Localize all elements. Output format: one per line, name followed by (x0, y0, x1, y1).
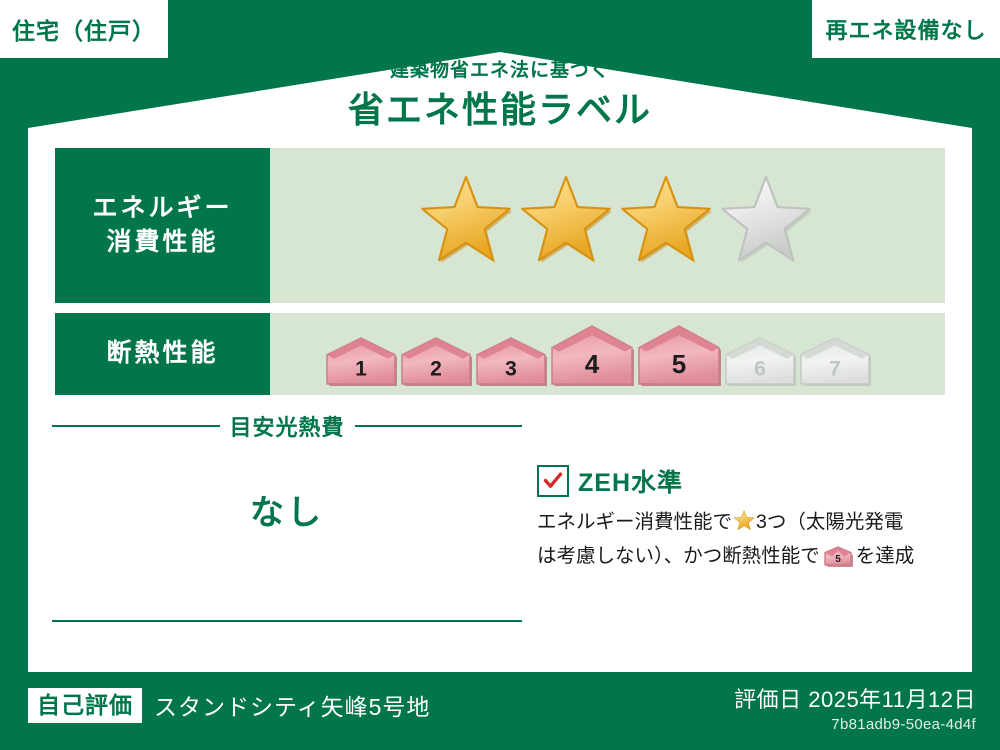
energy-performance-label: 住宅（住戸） 再エネ設備なし 建築物省エネ法に基づく 省エネ性能ラベル エネルギ… (0, 0, 1000, 750)
self-evaluation-badge: 自己評価 (28, 688, 142, 723)
svg-text:7: 7 (829, 358, 841, 381)
evaluation-id: 7b81adb9-50ea-4d4f (734, 716, 976, 733)
svg-text:5: 5 (672, 349, 686, 379)
star-empty-icon (718, 175, 814, 276)
house-level-inactive: 6 (724, 334, 796, 386)
rule-right (355, 425, 523, 427)
insulation-performance-value-area: 1 2 3 (270, 313, 945, 395)
svg-text:5: 5 (835, 554, 841, 565)
tag-housing-type-label: 住宅（住戸） (12, 12, 156, 46)
utility-cost-value: なし (52, 485, 522, 534)
house-level-active: 3 (475, 334, 547, 386)
checkbox-checked-icon (537, 465, 569, 497)
house-level-active: 1 (325, 334, 397, 386)
svg-text:2: 2 (430, 358, 442, 381)
label-title-block: 建築物省エネ法に基づく 省エネ性能ラベル (0, 60, 1000, 132)
star-filled-icon (418, 175, 514, 276)
house-level-active: 2 (400, 334, 472, 386)
zeh-desc-part3: を達成 (856, 545, 915, 567)
zeh-description: エネルギー消費性能で 3つ（太陽光発電 は考慮しない）、かつ断熱性能で 5 を達… (537, 508, 947, 576)
tag-renewable-equipment: 再エネ設備なし (812, 0, 1000, 58)
zeh-desc-part1: エネルギー消費性能で (537, 511, 732, 533)
footer-right-group: 評価日 2025年11月12日 7b81adb9-50ea-4d4f (734, 682, 976, 733)
zeh-title: ZEH水準 (578, 463, 683, 499)
energy-consumption-label-line1: エネルギー (92, 192, 232, 226)
label-footer: 自己評価 スタンドシティ矢峰5号地 評価日 2025年11月12日 7b81ad… (0, 672, 1000, 750)
tag-renewable-equipment-label: 再エネ設備なし (825, 13, 986, 45)
energy-consumption-row: エネルギー 消費性能 (55, 148, 945, 303)
energy-consumption-value-area (270, 148, 945, 303)
utility-cost-bottom-divider (52, 620, 522, 622)
insulation-performance-label-text: 断熱性能 (106, 337, 218, 371)
evaluation-date: 評価日 2025年11月12日 (734, 682, 976, 714)
tag-housing-type: 住宅（住戸） (0, 0, 168, 58)
insulation-performance-label: 断熱性能 (55, 313, 270, 395)
zeh-title-line: ZEH水準 (537, 463, 947, 499)
house-level-active: 4 (550, 322, 634, 386)
zeh-standard-block: ZEH水準 エネルギー消費性能で 3つ（太陽光発電 は考慮しない）、かつ断熱性能… (537, 463, 947, 576)
title-subtitle: 建築物省エネ法に基づく (0, 60, 1000, 83)
house-level-inactive: 7 (799, 334, 871, 386)
utility-cost-heading: 目安光熱費 (52, 412, 522, 440)
svg-text:6: 6 (754, 358, 766, 381)
house-rating-scale: 1 2 3 (325, 322, 871, 386)
star-filled-icon (618, 175, 714, 276)
inline-house-badge: 5 (823, 543, 853, 577)
insulation-performance-row: 断熱性能 1 2 (55, 313, 945, 395)
house-level-active: 5 (637, 322, 721, 386)
inline-star-icon (733, 510, 755, 542)
energy-consumption-label: エネルギー 消費性能 (55, 148, 270, 303)
svg-text:1: 1 (355, 358, 367, 381)
star-rating (418, 175, 814, 276)
footer-left-group: 自己評価 スタンドシティ矢峰5号地 (28, 688, 430, 723)
zeh-desc-part2: は考慮しない）、かつ断熱性能で (537, 545, 820, 567)
utility-cost-heading-label: 目安光熱費 (230, 410, 345, 442)
page-title: 省エネ性能ラベル (0, 87, 1000, 132)
rule-left (52, 425, 220, 427)
star-filled-icon (518, 175, 614, 276)
property-name: スタンドシティ矢峰5号地 (154, 688, 430, 722)
energy-consumption-label-line2: 消費性能 (106, 226, 218, 260)
svg-text:3: 3 (505, 358, 517, 381)
svg-text:4: 4 (585, 349, 600, 379)
zeh-desc-star-count: 3つ（太陽光発電 (756, 511, 903, 533)
